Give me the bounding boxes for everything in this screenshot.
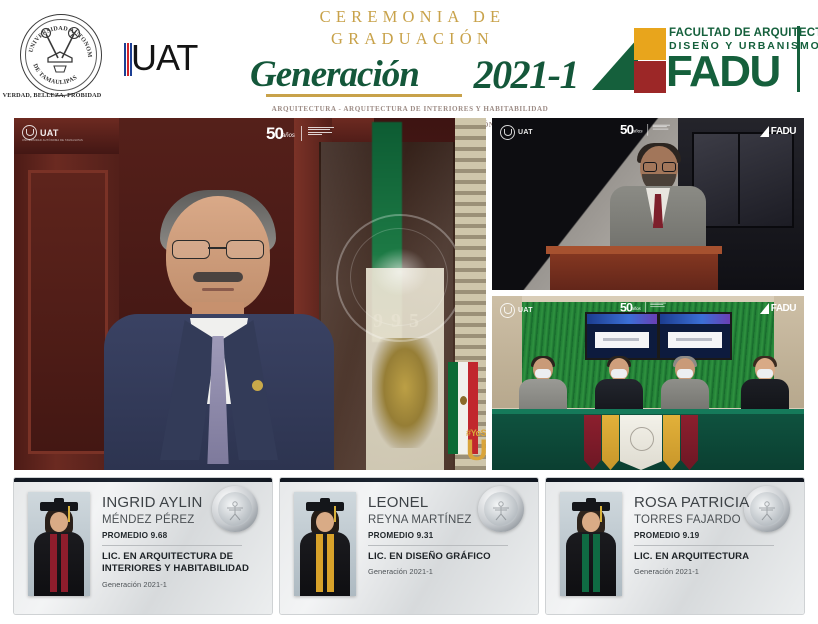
graduate-average: PROMEDIO 9.31 — [368, 531, 526, 540]
stole-icon — [582, 534, 600, 592]
graduate-photo — [560, 492, 622, 596]
graduation-cap-icon — [40, 502, 78, 511]
anniversary-number: 50 — [266, 126, 283, 141]
graduation-cap-icon — [306, 502, 344, 511]
graduate-average: PROMEDIO 9.68 — [102, 531, 260, 540]
uat-watermark-subtitle: UNIVERSIDAD AUTÓNOMA DE TAMAULIPAS — [22, 139, 83, 142]
anniversary-textlines-icon — [653, 125, 670, 130]
generation-word: Generación — [250, 52, 419, 98]
graduate-degree: LIC. EN ARQUITECTURA — [634, 551, 792, 563]
uat-watermark-seal-icon — [500, 125, 515, 140]
yosoy-uat-overlay: #YoSoy U — [466, 428, 486, 464]
generation-title-row: Generación 2021-1 — [240, 52, 580, 98]
fadu-watermark-label: FADU — [771, 303, 796, 314]
podium — [550, 246, 718, 290]
fadu-triangle-icon — [592, 38, 638, 90]
header-title-block: CEREMONIA DE GRADUACIÓN Generación 2021-… — [240, 6, 580, 111]
presidium-table — [492, 409, 804, 470]
anniversary-word: años — [632, 129, 642, 134]
anniversary-divider — [645, 302, 646, 313]
graduate-photo — [28, 492, 90, 596]
uat-watermark-br: UAT — [500, 303, 533, 318]
svg-text:UNIVERSIDAD AUTONOMA: UNIVERSIDAD AUTONOMA — [20, 14, 92, 58]
speaker-figure — [104, 196, 334, 470]
uat-watermark-seal-icon — [500, 303, 515, 318]
anniversary-watermark-main: 50 años — [266, 126, 334, 141]
fadu-line-1: FACULTAD DE ARQUITECTURA — [669, 27, 818, 40]
uat-watermark-tr: UAT — [500, 125, 533, 140]
fadu-watermark-br: FADU — [760, 303, 796, 314]
graduate-degree: LIC. EN DISEÑO GRÁFICO — [368, 551, 526, 563]
title-underline — [266, 94, 462, 97]
fadu-watermark-label: FADU — [771, 126, 796, 137]
presentation-screen-left — [585, 312, 659, 360]
uat-watermark-label: UAT — [518, 129, 533, 136]
graduate-card[interactable]: INGRID AYLIN MÉNDEZ PÉREZ PROMEDIO 9.68 … — [14, 478, 272, 614]
presidium-member — [592, 358, 646, 414]
fadu-yellow-square-icon — [634, 28, 666, 60]
presentation-screen-right — [658, 312, 732, 360]
university-seal-icon: UNIVERSIDAD AUTONOMA DE TAMAULIPAS — [20, 14, 102, 96]
card-divider — [368, 545, 508, 546]
fadu-logo: FACULTAD DE ARQUITECTURA DISEÑO Y URBANI… — [592, 22, 806, 94]
stole-icon — [316, 534, 334, 592]
video-panel-main-speaker[interactable]: 995 #YoSoy U UAT UNIVERSIDAD AUTÓNOMA — [14, 118, 486, 470]
anniversary-word: años — [631, 307, 640, 311]
video-panel-presidium[interactable]: UAT 50 años FADU — [492, 296, 804, 470]
uat-logo: UAT — [124, 38, 220, 80]
presidium-member — [738, 358, 792, 414]
graduate-cards: INGRID AYLIN MÉNDEZ PÉREZ PROMEDIO 9.68 … — [14, 478, 804, 614]
fadu-acronym: FADU — [666, 49, 780, 95]
yosoy-tag-letter: U — [466, 438, 486, 464]
uat-watermark-label: UAT — [40, 128, 59, 138]
anniversary-textlines-icon — [308, 127, 334, 135]
programs-line-1: ARQUITECTURA - ARQUITECTURA DE INTERIORE… — [240, 104, 580, 114]
card-divider — [634, 545, 774, 546]
table-banner-seal-icon — [630, 427, 654, 451]
presidium-member — [516, 358, 570, 414]
fadu-red-square-icon — [634, 61, 666, 93]
card-top-accent — [14, 478, 272, 482]
fadu-watermark-tr: FADU — [760, 126, 796, 137]
video-grid: 995 #YoSoy U UAT UNIVERSIDAD AUTÓNOMA — [14, 118, 804, 470]
vitruvian-figure-icon — [491, 497, 511, 521]
graduate-generation: Generación 2021-1 — [368, 567, 526, 576]
podium-eyeglasses-icon — [643, 162, 675, 170]
graduate-degree: LIC. EN ARQUITECTURA DE INTERIORES Y HAB… — [102, 551, 260, 576]
graduation-broadcast-page: UNIVERSIDAD AUTONOMA DE TAMAULIPAS VERDA… — [0, 0, 818, 624]
header-left-logos: UNIVERSIDAD AUTONOMA DE TAMAULIPAS VERDA… — [8, 8, 218, 108]
stole-icon — [50, 534, 68, 592]
vitruvian-figure-icon — [757, 497, 777, 521]
anniversary-divider — [301, 126, 302, 141]
fadu-vertical-bar-icon — [797, 26, 800, 92]
graduate-card[interactable]: ROSA PATRICIA TORRES FAJARDO PROMEDIO 9.… — [546, 478, 804, 614]
anniversary-number: 50 — [620, 302, 632, 313]
page-header: UNIVERSIDAD AUTONOMA DE TAMAULIPAS VERDA… — [0, 0, 818, 115]
card-top-accent — [280, 478, 538, 482]
vitruvian-figure-icon — [225, 497, 245, 521]
uat-watermark-seal-icon — [22, 125, 37, 140]
anniversary-watermark-tr: 50 años — [620, 124, 670, 136]
podium-speaker-figure — [610, 146, 706, 254]
seal-ring-text-icon: UNIVERSIDAD AUTONOMA DE TAMAULIPAS — [20, 14, 100, 94]
anniversary-word: años — [282, 133, 295, 139]
card-top-accent — [546, 478, 804, 482]
graduation-cap-icon — [572, 502, 610, 511]
ceremony-title: CEREMONIA DE GRADUACIÓN — [245, 6, 580, 50]
uat-watermark-label: UAT — [518, 307, 533, 314]
uat-watermark: UAT UNIVERSIDAD AUTÓNOMA DE TAMAULIPAS — [22, 125, 59, 140]
svg-text:DE TAMAULIPAS: DE TAMAULIPAS — [31, 63, 78, 86]
anniversary-textlines-icon — [650, 303, 666, 307]
eyeglasses-icon — [172, 240, 264, 257]
uat-logo-text: UAT — [131, 37, 197, 79]
presidium-member — [658, 358, 712, 414]
graduate-card[interactable]: LEONEL REYNA MARTÍNEZ PROMEDIO 9.31 LIC.… — [280, 478, 538, 614]
flag-year-text: 995 — [340, 310, 460, 333]
graduate-generation: Generación 2021-1 — [102, 580, 260, 589]
anniversary-number: 50 — [620, 124, 633, 136]
card-divider — [102, 545, 242, 546]
video-panel-podium-speaker[interactable]: UAT 50 años FADU — [492, 118, 804, 290]
graduate-generation: Generación 2021-1 — [634, 567, 792, 576]
graduate-photo — [294, 492, 356, 596]
graduate-average: PROMEDIO 9.19 — [634, 531, 792, 540]
anniversary-watermark-br: 50 años — [620, 302, 666, 313]
fadu-triangle-icon — [760, 303, 769, 314]
fadu-triangle-icon — [760, 126, 769, 137]
presidium-members — [492, 358, 804, 414]
seal-motto: VERDAD, BELLEZA, PROBIDAD — [2, 92, 102, 99]
generation-year: 2021-1 — [474, 52, 578, 98]
anniversary-divider — [647, 124, 648, 136]
